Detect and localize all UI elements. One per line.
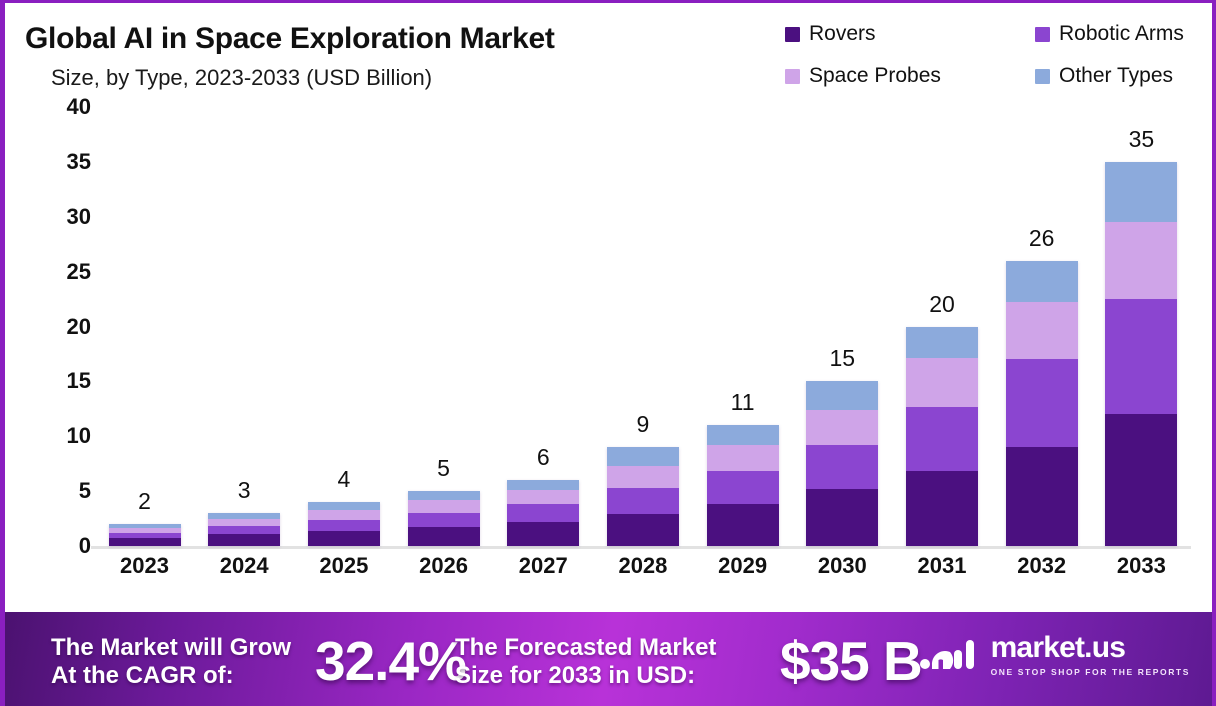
legend-swatch-icon: [1035, 27, 1050, 42]
bar-segment-robotic-arms[interactable]: [208, 526, 280, 534]
forecast-value: $35 B: [780, 629, 922, 693]
legend-item-label: Rovers: [809, 22, 876, 46]
x-axis-tick: 2025: [294, 553, 393, 579]
y-axis-tick: 0: [29, 533, 91, 559]
bar-segment-space-probes[interactable]: [906, 358, 978, 406]
bar-column[interactable]: 2: [95, 107, 194, 546]
bar-segment-space-probes[interactable]: [208, 519, 280, 526]
bar-stack[interactable]: [906, 327, 978, 547]
x-axis-tick: 2023: [95, 553, 194, 579]
bar-value-label: 5: [394, 455, 493, 482]
bar-stack[interactable]: [607, 447, 679, 546]
bar-stack[interactable]: [208, 513, 280, 546]
bar-segment-rovers[interactable]: [208, 534, 280, 546]
market-us-logo[interactable]: market.us ONE STOP SHOP FOR THE REPORTS: [919, 632, 1190, 677]
bar-segment-robotic-arms[interactable]: [1006, 359, 1078, 447]
legend-item-robotic-arms[interactable]: Robotic Arms: [1035, 22, 1210, 46]
bar-segment-rovers[interactable]: [507, 522, 579, 546]
y-axis-tick: 15: [29, 368, 91, 394]
bar-column[interactable]: 20: [893, 107, 992, 546]
forecast-caption-line2: Size for 2033 in USD:: [455, 662, 716, 690]
bar-segment-robotic-arms[interactable]: [408, 513, 480, 527]
bar-segment-rovers[interactable]: [408, 527, 480, 546]
bar-column[interactable]: 6: [494, 107, 593, 546]
bar-column[interactable]: 4: [294, 107, 393, 546]
bar-stack[interactable]: [806, 381, 878, 546]
bar-column[interactable]: 5: [394, 107, 493, 546]
bar-stack[interactable]: [507, 480, 579, 546]
bar-column[interactable]: 3: [195, 107, 294, 546]
bar-segment-rovers[interactable]: [707, 504, 779, 546]
bar-value-label: 4: [294, 466, 393, 493]
forecast-caption: The Forecasted Market Size for 2033 in U…: [455, 634, 716, 691]
x-axis-tick: 2032: [992, 553, 1091, 579]
legend-swatch-icon: [785, 69, 800, 84]
footer-banner: The Market will Grow At the CAGR of: 32.…: [5, 612, 1212, 706]
legend-item-label: Robotic Arms: [1059, 22, 1184, 46]
cagr-caption-line1: The Market will Grow: [51, 634, 291, 662]
bar-value-label: 15: [793, 345, 892, 372]
legend-item-label: Space Probes: [809, 64, 941, 88]
bar-column[interactable]: 26: [992, 107, 1091, 546]
bar-segment-robotic-arms[interactable]: [806, 445, 878, 489]
x-axis-tick: 2033: [1092, 553, 1191, 579]
x-axis-baseline: [91, 546, 1191, 549]
bar-segment-other-types[interactable]: [408, 491, 480, 500]
legend-item-other-types[interactable]: Other Types: [1035, 64, 1210, 88]
bar-value-label: 20: [893, 291, 992, 318]
bar-stack[interactable]: [408, 491, 480, 546]
bar-segment-rovers[interactable]: [607, 514, 679, 546]
bar-segment-space-probes[interactable]: [1105, 222, 1177, 299]
plot-area: 0510152025303540 2345691115202635 202320…: [5, 107, 1212, 612]
bar-segment-robotic-arms[interactable]: [906, 407, 978, 472]
x-axis-tick: 2028: [593, 553, 692, 579]
bar-segment-other-types[interactable]: [1006, 261, 1078, 303]
y-axis-tick: 10: [29, 423, 91, 449]
x-axis-tick: 2024: [195, 553, 294, 579]
x-axis-tick: 2031: [893, 553, 992, 579]
bar-segment-other-types[interactable]: [806, 381, 878, 410]
logo-wordmark: market.us: [991, 633, 1190, 663]
infographic-root: Global AI in Space Exploration Market Si…: [0, 0, 1216, 706]
bar-segment-space-probes[interactable]: [707, 445, 779, 471]
bar-value-label: 11: [693, 389, 792, 416]
forecast-caption-line1: The Forecasted Market: [455, 634, 716, 662]
logo-tagline: ONE STOP SHOP FOR THE REPORTS: [991, 667, 1190, 677]
legend-item-label: Other Types: [1059, 64, 1173, 88]
bar-segment-rovers[interactable]: [308, 531, 380, 546]
y-axis-tick: 20: [29, 314, 91, 340]
bar-value-label: 3: [195, 477, 294, 504]
x-axis: 2023202420252026202720282029203020312032…: [95, 553, 1191, 579]
bar-segment-other-types[interactable]: [607, 447, 679, 466]
bar-column[interactable]: 9: [593, 107, 692, 546]
bar-segment-space-probes[interactable]: [308, 510, 380, 520]
bar-segment-rovers[interactable]: [806, 489, 878, 546]
bar-value-label: 6: [494, 444, 593, 471]
bar-segment-space-probes[interactable]: [1006, 302, 1078, 359]
y-axis-tick: 30: [29, 204, 91, 230]
bar-segment-other-types[interactable]: [507, 480, 579, 490]
cagr-value: 32.4%: [315, 629, 466, 693]
bar-segment-other-types[interactable]: [308, 502, 380, 510]
bar-segment-rovers[interactable]: [109, 538, 181, 546]
bar-stack[interactable]: [1105, 162, 1177, 546]
bar-value-label: 26: [992, 225, 1091, 252]
bar-value-label: 9: [593, 411, 692, 438]
bar-segment-rovers[interactable]: [1006, 447, 1078, 546]
bar-segment-other-types[interactable]: [707, 425, 779, 445]
bar-stack[interactable]: [109, 524, 181, 546]
bar-segment-space-probes[interactable]: [507, 490, 579, 504]
bar-column[interactable]: 15: [793, 107, 892, 546]
bar-segment-space-probes[interactable]: [806, 410, 878, 445]
bar-value-label: 35: [1092, 126, 1191, 153]
bar-segment-rovers[interactable]: [1105, 414, 1177, 546]
bar-segment-robotic-arms[interactable]: [1105, 299, 1177, 414]
cagr-caption: The Market will Grow At the CAGR of:: [51, 634, 291, 691]
bar-segment-robotic-arms[interactable]: [607, 488, 679, 514]
bar-segment-other-types[interactable]: [906, 327, 978, 359]
x-axis-tick: 2026: [394, 553, 493, 579]
bar-segment-other-types[interactable]: [1105, 162, 1177, 222]
bar-column[interactable]: 35: [1092, 107, 1191, 546]
bar-stack[interactable]: [1006, 261, 1078, 546]
chart-legend: RoversRobotic ArmsSpace ProbesOther Type…: [785, 13, 1210, 97]
bar-stack[interactable]: [707, 425, 779, 546]
bar-segment-space-probes[interactable]: [607, 466, 679, 488]
page-title: Global AI in Space Exploration Market: [25, 22, 555, 56]
x-axis-tick: 2029: [693, 553, 792, 579]
bar-group: 2345691115202635: [95, 107, 1191, 546]
x-axis-tick: 2030: [793, 553, 892, 579]
bar-column[interactable]: 11: [693, 107, 792, 546]
legend-swatch-icon: [1035, 69, 1050, 84]
legend-swatch-icon: [785, 27, 800, 42]
x-axis-tick: 2027: [494, 553, 593, 579]
bar-segment-robotic-arms[interactable]: [507, 504, 579, 522]
legend-item-rovers[interactable]: Rovers: [785, 22, 1035, 46]
cagr-caption-line2: At the CAGR of:: [51, 662, 291, 690]
y-axis-tick: 35: [29, 149, 91, 175]
bar-segment-robotic-arms[interactable]: [707, 471, 779, 504]
bar-segment-robotic-arms[interactable]: [308, 520, 380, 531]
y-axis: 0510152025303540: [29, 107, 91, 612]
legend-item-space-probes[interactable]: Space Probes: [785, 64, 1035, 88]
page-subtitle: Size, by Type, 2023-2033 (USD Billion): [51, 65, 432, 91]
bar-stack[interactable]: [308, 502, 380, 546]
bar-value-label: 2: [95, 488, 194, 515]
y-axis-tick: 40: [29, 94, 91, 120]
y-axis-tick: 5: [29, 478, 91, 504]
y-axis-tick: 25: [29, 259, 91, 285]
bar-segment-space-probes[interactable]: [408, 500, 480, 512]
market-us-logomark-icon: [919, 632, 981, 677]
bar-segment-rovers[interactable]: [906, 471, 978, 546]
